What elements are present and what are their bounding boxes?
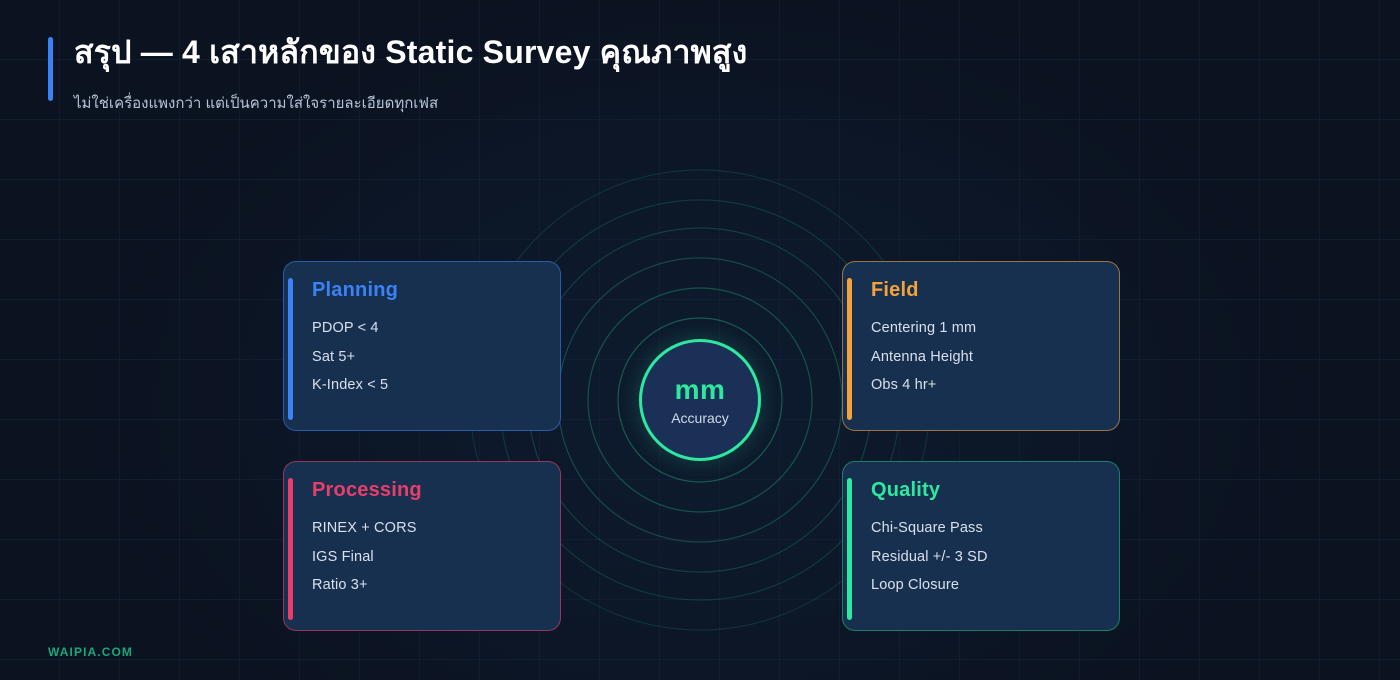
page-header: สรุป — 4 เสาหลักของ Static Survey คุณภาพ… [48,33,1048,123]
card-title: Planning [312,280,560,300]
card-accent-bar [847,478,852,620]
card-item-list: Chi-Square Pass Residual +/- 3 SD Loop C… [871,521,1119,593]
list-item: Residual +/- 3 SD [871,550,1119,565]
list-item: Antenna Height [871,350,1119,365]
card-item-list: PDOP < 4 Sat 5+ K-Index < 5 [312,321,560,393]
pillar-card-quality[interactable]: Quality Chi-Square Pass Residual +/- 3 S… [842,461,1120,631]
list-item: Chi-Square Pass [871,521,1119,536]
footer-brand: WAIPIA.COM [48,645,133,659]
page-title: สรุป — 4 เสาหลักของ Static Survey คุณภาพ… [74,31,748,74]
pillar-card-planning[interactable]: Planning PDOP < 4 Sat 5+ K-Index < 5 [283,261,561,431]
accuracy-hub: mm Accuracy [639,339,761,461]
card-item-list: Centering 1 mm Antenna Height Obs 4 hr+ [871,321,1119,393]
list-item: Centering 1 mm [871,321,1119,336]
list-item: Obs 4 hr+ [871,378,1119,393]
title-accent-bar [48,37,53,101]
list-item: IGS Final [312,550,560,565]
pillar-card-field[interactable]: Field Centering 1 mm Antenna Height Obs … [842,261,1120,431]
card-accent-bar [288,278,293,420]
card-accent-bar [847,278,852,420]
list-item: PDOP < 4 [312,321,560,336]
page-subtitle: ไม่ใช่เครื่องแพงกว่า แต่เป็นความใส่ใจราย… [74,93,438,116]
list-item: RINEX + CORS [312,521,560,536]
hub-label: Accuracy [671,411,729,425]
card-title: Field [871,280,1119,300]
list-item: K-Index < 5 [312,378,560,393]
list-item: Loop Closure [871,578,1119,593]
card-title: Quality [871,480,1119,500]
hub-value: mm [675,376,726,404]
list-item: Ratio 3+ [312,578,560,593]
card-accent-bar [288,478,293,620]
card-title: Processing [312,480,560,500]
card-item-list: RINEX + CORS IGS Final Ratio 3+ [312,521,560,593]
pillar-card-processing[interactable]: Processing RINEX + CORS IGS Final Ratio … [283,461,561,631]
list-item: Sat 5+ [312,350,560,365]
